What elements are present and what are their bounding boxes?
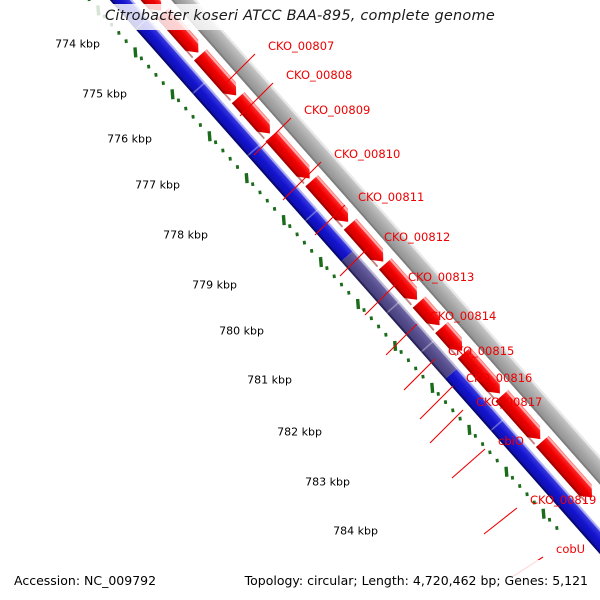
- ruler-tick-label: 774 kbp: [55, 38, 100, 51]
- gene-label[interactable]: CKO_00817: [476, 395, 542, 409]
- status-bar: Accession: NC_009792 Topology: circular;…: [0, 560, 600, 600]
- accession-label: Accession: NC_009792: [14, 573, 156, 588]
- gene-label[interactable]: CKO_00811: [358, 190, 424, 204]
- ruler-tick-label: 775 kbp: [82, 88, 127, 101]
- gene-label[interactable]: CKO_00819: [530, 493, 596, 507]
- page-title: Citrobacter koseri ATCC BAA-895, complet…: [0, 8, 600, 24]
- genome-map-viewer: 774 kbp775 kbp776 kbp777 kbp778 kbp779 k…: [0, 0, 600, 600]
- ruler-tick-label: 780 kbp: [219, 325, 264, 338]
- ruler-tick-label: 782 kbp: [277, 426, 322, 439]
- gene-label[interactable]: CKO_00808: [286, 68, 352, 82]
- gene-leader-line: [484, 508, 517, 534]
- gene-label[interactable]: cbiO: [498, 434, 524, 448]
- gene-label[interactable]: CKO_00812: [384, 230, 450, 244]
- gene-label[interactable]: CKO_00809: [304, 103, 370, 117]
- gene-leader-line: [420, 386, 453, 419]
- gene-label[interactable]: CKO_00815: [448, 344, 514, 358]
- ruler-tick-label: 776 kbp: [107, 133, 152, 146]
- gene-leader-line: [430, 410, 463, 443]
- gene-label[interactable]: CKO_00816: [466, 371, 532, 385]
- ruler-tick-label: 781 kbp: [247, 374, 292, 387]
- ruler-tick-label: 783 kbp: [305, 476, 350, 489]
- gene-leader-line: [452, 449, 485, 478]
- gene-label[interactable]: cobU: [556, 542, 585, 556]
- ruler-tick-label: 778 kbp: [163, 229, 208, 242]
- genome-summary-label: Topology: circular; Length: 4,720,462 bp…: [245, 573, 588, 588]
- ruler-tick-label: 784 kbp: [333, 525, 378, 538]
- ruler-tick-label: 779 kbp: [192, 279, 237, 292]
- gene-label[interactable]: CKO_00813: [408, 270, 474, 284]
- gene-label[interactable]: CKO_00814: [430, 309, 496, 323]
- ruler-tick-label: 777 kbp: [135, 179, 180, 192]
- gene-label[interactable]: CKO_00807: [268, 39, 334, 53]
- reverse-strand-genes[interactable]: [0, 0, 600, 556]
- gene-label[interactable]: CKO_00810: [334, 147, 400, 161]
